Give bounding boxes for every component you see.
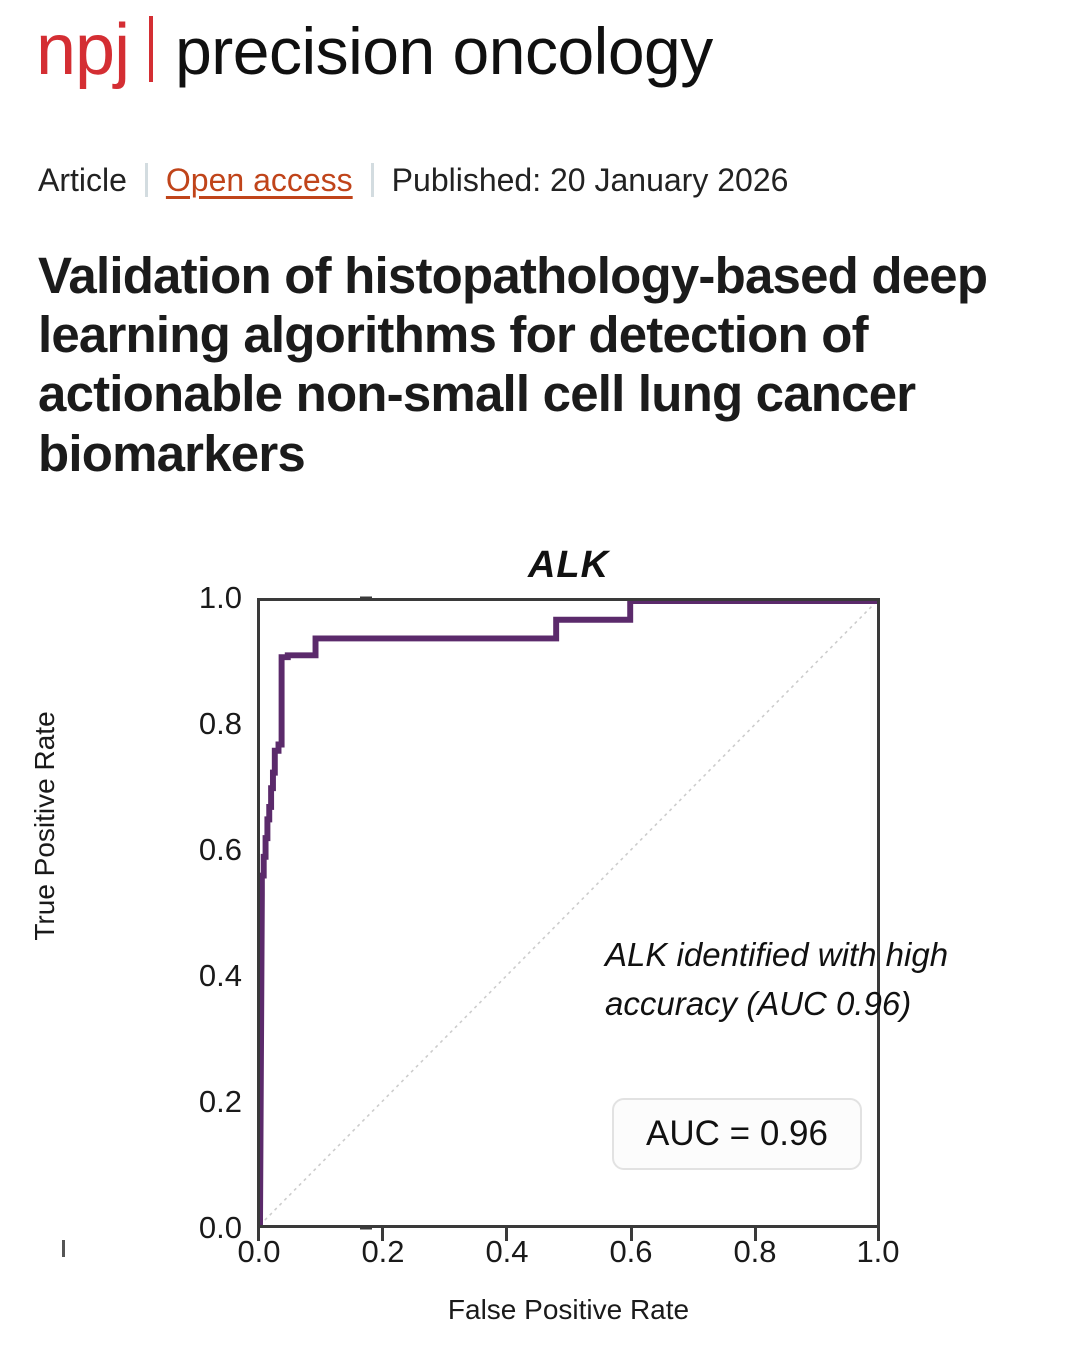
meta-divider-icon-2 [371,163,374,197]
journal-title: precision oncology [175,18,713,84]
y-tick-label-4: 0.8 [132,706,242,742]
open-access-link[interactable]: Open access [166,162,353,199]
y-axis-ticks: 0.0 0.2 0.4 0.6 0.8 1.0 [110,598,242,1228]
meta-published-date: Published: 20 January 2026 [392,162,789,199]
page-title: Validation of histopathology-based deep … [38,246,1048,483]
y-tick-label-2: 0.4 [132,958,242,994]
x-axis-label: False Positive Rate [257,1294,880,1326]
x-tick-label-3: 0.6 [571,1234,691,1270]
x-tick-label-1: 0.2 [323,1234,443,1270]
y-tick-label-3: 0.6 [132,832,242,868]
x-tick-label-5: 1.0 [818,1234,938,1270]
x-axis-ticks: 0.0 0.2 0.4 0.6 0.8 1.0 [257,1234,880,1282]
chart-title: ALK [257,544,880,587]
y-tick-label-1: 0.2 [132,1084,242,1120]
chart-annotation-line-1: ALK identified with high [605,931,1065,980]
chart-annotation: ALK identified with high accuracy (AUC 0… [605,931,1065,1029]
x-tick-label-4: 0.8 [695,1234,815,1270]
roc-figure: ALK True Positive Rate 0.0 0.2 0.4 0.6 0… [0,520,1080,1350]
x-tick-label-0: 0.0 [199,1234,319,1270]
journal-masthead: npj precision oncology [36,8,713,108]
article-meta-row: Article Open access Published: 20 Januar… [38,158,788,202]
masthead-divider-icon [149,16,153,82]
y-axis-label: True Positive Rate [29,626,61,1026]
page-corner-tick-icon [62,1240,65,1257]
npj-logo: npj [36,14,129,86]
plot-area: ALK identified with high accuracy (AUC 0… [257,598,880,1228]
y-tick-label-5: 1.0 [132,580,242,616]
x-tick-label-2: 0.4 [447,1234,567,1270]
meta-divider-icon-1 [145,163,148,197]
chart-annotation-line-2: accuracy (AUC 0.96) [605,980,1065,1029]
meta-article-type: Article [38,162,127,199]
auc-badge: AUC = 0.96 [612,1098,862,1170]
